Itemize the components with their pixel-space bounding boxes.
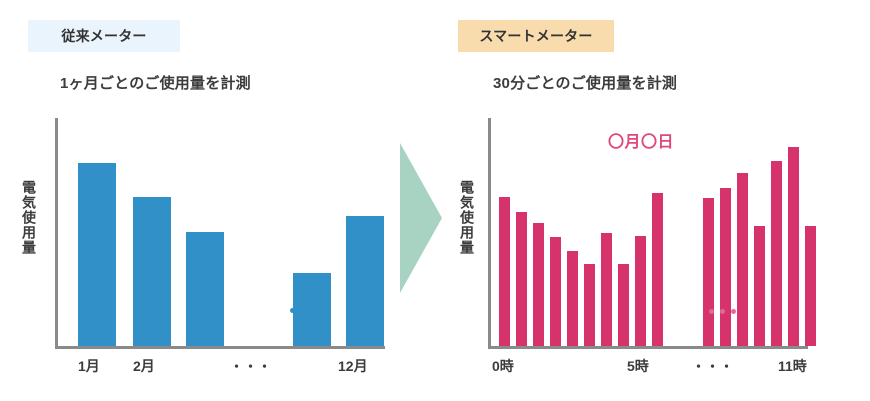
break-dot [720, 309, 725, 314]
badge-conventional-meter: 従来メーター [28, 20, 180, 52]
bar-conventional-2 [186, 232, 224, 346]
bar-smart-15 [788, 147, 799, 346]
bar-conventional-0 [78, 163, 116, 346]
chart-conventional-usage: 1月 2月 ・・・ 12月 [55, 118, 395, 358]
bar-smart-8 [635, 236, 646, 346]
date-caption-smart: 〇月〇日 [608, 128, 674, 152]
bar-smart-2 [533, 223, 544, 346]
x-axis-line-conventional [55, 346, 385, 349]
x-tick-conventional-break: ・・・ [230, 356, 272, 375]
bar-smart-3 [550, 237, 561, 346]
subtitle-conventional-meter: 1ヶ月ごとのご使用量を計測 [60, 72, 251, 93]
x-tick-smart-1: 5時 [627, 356, 649, 376]
bar-smart-6 [601, 233, 612, 346]
x-tick-smart-0: 0時 [492, 356, 514, 376]
bar-smart-0 [499, 197, 510, 346]
break-dot [731, 309, 736, 314]
bar-conventional-1 [133, 197, 171, 346]
bar-smart-7 [618, 264, 629, 346]
break-dot [709, 309, 714, 314]
bar-smart-4 [567, 251, 578, 346]
series-break-dots-conventional [290, 308, 341, 313]
y-axis-label-conventional: 電気使用量 [22, 180, 36, 255]
bar-smart-11 [720, 188, 731, 346]
bar-smart-1 [516, 212, 527, 346]
chart-smart-usage: 0時 5時 ・・・ 11時 [488, 118, 828, 358]
break-dot [290, 308, 295, 313]
bar-smart-10 [703, 198, 714, 346]
x-tick-conventional-3: 12月 [338, 356, 368, 376]
bar-smart-16 [805, 226, 816, 346]
panel-conventional-meter: 従来メーター 1ヶ月ごとのご使用量を計測 電気使用量 1月 2月 ・・・ 12月 [0, 0, 435, 401]
bar-smart-5 [584, 264, 595, 346]
bar-smart-12 [737, 173, 748, 346]
subtitle-smart-meter: 30分ごとのご使用量を計測 [493, 72, 677, 93]
bar-smart-14 [771, 161, 782, 346]
panel-smart-meter: スマートメーター 30分ごとのご使用量を計測 [435, 0, 870, 401]
x-tick-smart-break: ・・・ [692, 356, 734, 375]
x-tick-conventional-0: 1月 [78, 356, 100, 376]
series-break-dots-smart [709, 309, 742, 314]
y-axis-line-smart [488, 118, 491, 348]
bar-smart-13 [754, 226, 765, 346]
y-axis-line-conventional [55, 118, 58, 348]
x-axis-line-smart [488, 346, 808, 349]
bar-conventional-4 [346, 216, 384, 346]
x-tick-conventional-1: 2月 [133, 356, 155, 376]
bar-smart-9 [652, 193, 663, 346]
badge-smart-meter: スマートメーター [458, 20, 614, 52]
break-dot [307, 308, 312, 313]
x-tick-smart-3: 11時 [778, 356, 807, 376]
break-dot [324, 308, 329, 313]
y-axis-label-smart: 電気使用量 [460, 180, 474, 255]
